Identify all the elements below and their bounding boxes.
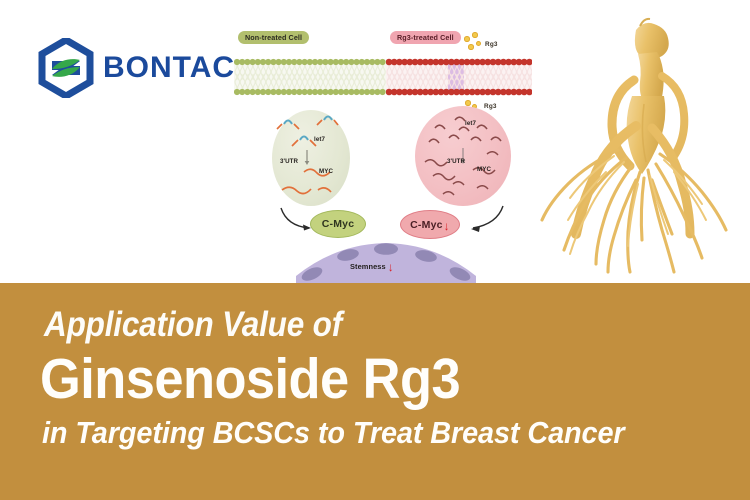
label-let7: let7 bbox=[314, 136, 325, 143]
rg3-molecule-dot bbox=[465, 100, 471, 106]
non-treated-cell-nucleus: let7 3'UTR MYC bbox=[272, 110, 350, 206]
title-banner: Application Value of Ginsenoside Rg3 in … bbox=[0, 283, 750, 500]
cmyc-decrease-arrow-icon: ↓ bbox=[444, 220, 450, 232]
mechanism-diagram: Non-treated Cell Rg3-treated Cell bbox=[232, 18, 532, 283]
ginseng-root-illustration bbox=[540, 8, 750, 283]
label-myc: MYC bbox=[477, 166, 491, 173]
cmyc-label: C-Myc bbox=[410, 219, 443, 231]
rg3-treated-cell-nucleus: let7 3'UTR MYC bbox=[415, 106, 511, 206]
hero-top-area: BONTAC Non-treated Cell Rg3-treated Cell bbox=[0, 0, 750, 283]
badge-rg3-treated-cell: Rg3-treated Cell bbox=[390, 31, 461, 44]
cmyc-outcome-right: C-Myc ↓ bbox=[400, 210, 460, 239]
label-3utr: 3'UTR bbox=[280, 158, 298, 165]
rg3-label-extracellular: Rg3 bbox=[485, 41, 498, 48]
badge-non-treated-cell: Non-treated Cell bbox=[238, 31, 309, 44]
title-line-1: Application Value of bbox=[44, 305, 342, 345]
cmyc-label: C-Myc bbox=[322, 218, 355, 230]
arrow-right-to-cmyc bbox=[464, 204, 506, 236]
rg3-molecule-dot bbox=[472, 32, 478, 38]
label-myc: MYC bbox=[319, 168, 333, 175]
rg3-molecule-dot bbox=[476, 41, 481, 46]
label-let7: let7 bbox=[465, 120, 476, 127]
title-line-3: in Targeting BCSCs to Treat Breast Cance… bbox=[42, 415, 625, 451]
brand-logo[interactable]: BONTAC bbox=[38, 38, 235, 98]
title-line-2: Ginsenoside Rg3 bbox=[40, 346, 460, 412]
rna-strands-right bbox=[415, 106, 511, 206]
stemness-label-group: Stemness ↓ bbox=[350, 260, 394, 272]
cmyc-outcome-left: C-Myc bbox=[310, 210, 366, 238]
brand-wordmark: BONTAC bbox=[103, 51, 235, 85]
stemness-decrease-arrow-icon: ↓ bbox=[388, 261, 394, 273]
rg3-molecule-dot bbox=[464, 36, 470, 42]
lipid-bilayer-right bbox=[386, 54, 532, 100]
stemness-label: Stemness bbox=[350, 262, 386, 271]
bontac-hexagon-leaf-logo bbox=[38, 38, 94, 98]
lipid-bilayer-left bbox=[234, 54, 386, 100]
label-3utr: 3'UTR bbox=[447, 158, 465, 165]
rg3-molecule-dot bbox=[468, 44, 474, 50]
